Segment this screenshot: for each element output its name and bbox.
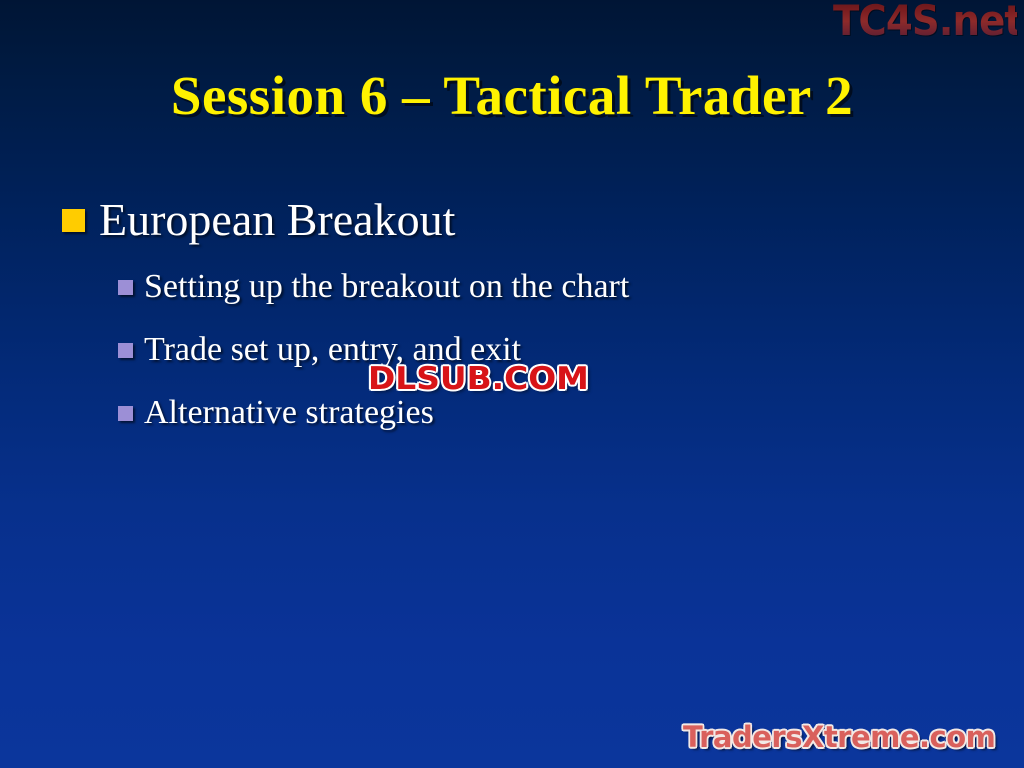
square-bullet-lavender-icon [118,406,133,421]
watermark-tradersxtreme: TradersXtreme.com [683,719,995,755]
bullet-label: Setting up the breakout on the chart [144,266,629,308]
bullet-item-level2: Alternative strategies [0,392,1024,434]
bullet-label: Alternative strategies [144,392,434,434]
square-bullet-lavender-icon [118,343,133,358]
slide-body-bullet-list: European Breakout Setting up the breakou… [0,192,1024,455]
bullet-item-level2: Setting up the breakout on the chart [0,266,1024,308]
watermark-tc4s-text: TC4S.net [833,0,1017,46]
bullet-item-level1: European Breakout [0,192,1024,248]
watermark-tc4s: TC4S.net [833,0,1024,46]
bullet-label: European Breakout [99,192,455,248]
presentation-slide: Session 6 – Tactical Trader 2 European B… [0,0,1024,768]
square-bullet-lavender-icon [118,280,133,295]
slide-title: Session 6 – Tactical Trader 2 [0,66,1024,126]
square-bullet-gold-icon [62,209,85,232]
watermark-tradersxtreme-text: TradersXtreme.com [683,719,995,755]
bullet-item-level2: Trade set up, entry, and exit [0,329,1024,371]
bullet-label: Trade set up, entry, and exit [144,329,521,371]
